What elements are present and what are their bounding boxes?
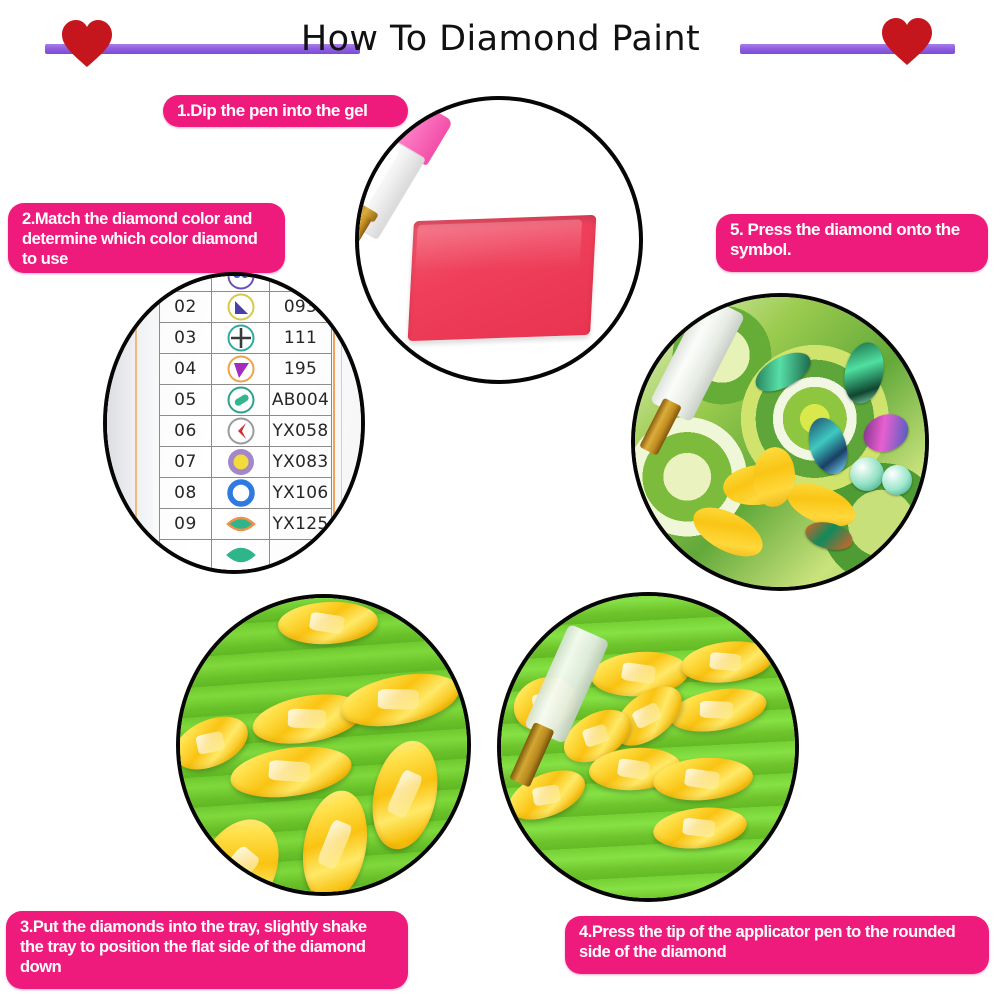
diamond (679, 637, 775, 688)
applicator-pen (631, 293, 753, 489)
canvas-mandala (635, 297, 925, 587)
diamond (337, 665, 464, 735)
step-4-label: 4.Press the tip of the applicator pen to… (565, 916, 989, 974)
yellow-diamond (686, 497, 771, 566)
pen-tip (509, 722, 554, 788)
clear-gem (882, 465, 912, 495)
legend-code (270, 540, 332, 571)
sheet-rule-left (135, 272, 137, 574)
legend-number: 02 (160, 292, 212, 323)
poster-root: How To Diamond Paint 1.Dip the pen into … (0, 0, 1001, 1001)
leaf-lens-icon (212, 509, 270, 540)
left-arrowhead-icon (212, 416, 270, 447)
diamond (295, 785, 376, 896)
green-gem (839, 339, 889, 408)
diamond (277, 599, 379, 646)
step-4-photo (497, 592, 799, 902)
table-row (160, 540, 332, 571)
legend-code: AB004 (270, 385, 332, 416)
filled-disc-icon (212, 447, 270, 478)
step-2-photo: 02802093031110419505AB00406YX05807YX0830… (103, 272, 365, 574)
magenta-gem (858, 408, 914, 459)
legend-number: 03 (160, 323, 212, 354)
legend-code: YX125 (270, 509, 332, 540)
sheet-rule-right-2 (341, 272, 342, 574)
green-gem (749, 345, 816, 400)
table-row: 07YX083 (160, 447, 332, 478)
leaf-lens-icon (212, 540, 270, 571)
legend-number: 04 (160, 354, 212, 385)
table-row: 04195 (160, 354, 332, 385)
table-row: 02093 (160, 292, 332, 323)
green-tray (180, 598, 467, 892)
table-row: 05AB004 (160, 385, 332, 416)
sheet-rule-right (333, 272, 335, 574)
legend-number: 09 (160, 509, 212, 540)
diamond (651, 803, 749, 853)
circle-double-dot-icon (212, 272, 270, 292)
legend-code: 195 (270, 354, 332, 385)
plus-cross-icon (212, 323, 270, 354)
poster-header: How To Diamond Paint (0, 0, 1001, 90)
sheet-shading (103, 272, 153, 574)
step-5-photo (631, 293, 929, 591)
legend-code: 028 (270, 272, 332, 292)
step-3-label: 3.Put the diamonds into the tray, slight… (6, 911, 408, 989)
legend-number (160, 540, 212, 571)
legend-code: 111 (270, 323, 332, 354)
table-row: 06YX058 (160, 416, 332, 447)
legend-number: 06 (160, 416, 212, 447)
table-row: 03111 (160, 323, 332, 354)
legend-code: YX083 (270, 447, 332, 478)
color-legend-table: 02802093031110419505AB00406YX05807YX0830… (159, 272, 332, 571)
legend-number: 05 (160, 385, 212, 416)
table-row: 028 (160, 272, 332, 292)
legend-number: 08 (160, 478, 212, 509)
legend-code: YX058 (270, 416, 332, 447)
green-tray (501, 596, 795, 898)
legend-code: YX106 (270, 478, 332, 509)
diamond (666, 682, 769, 738)
diamond (179, 805, 296, 896)
legend-number: 07 (160, 447, 212, 478)
ring-donut-icon (212, 478, 270, 509)
slanted-capsule-icon (212, 385, 270, 416)
step-5-label: 5. Press the diamond onto the symbol. (716, 214, 988, 272)
table-row: 08YX106 (160, 478, 332, 509)
teal-gem (802, 413, 854, 479)
legend-code: 093 (270, 292, 332, 323)
legend-number (160, 272, 212, 292)
step-1-photo (355, 96, 643, 384)
clear-gem (850, 457, 884, 491)
diamond (363, 735, 447, 855)
step-3-photo (176, 594, 471, 896)
pen-tip (639, 398, 682, 456)
gel-pad (408, 215, 597, 341)
table-row: 09YX125 (160, 509, 332, 540)
filled-right-triangle-icon (212, 292, 270, 323)
filled-down-triangle-icon (212, 354, 270, 385)
page-title: How To Diamond Paint (0, 19, 1001, 59)
step-2-label: 2.Match the diamond color and determine … (8, 203, 285, 273)
